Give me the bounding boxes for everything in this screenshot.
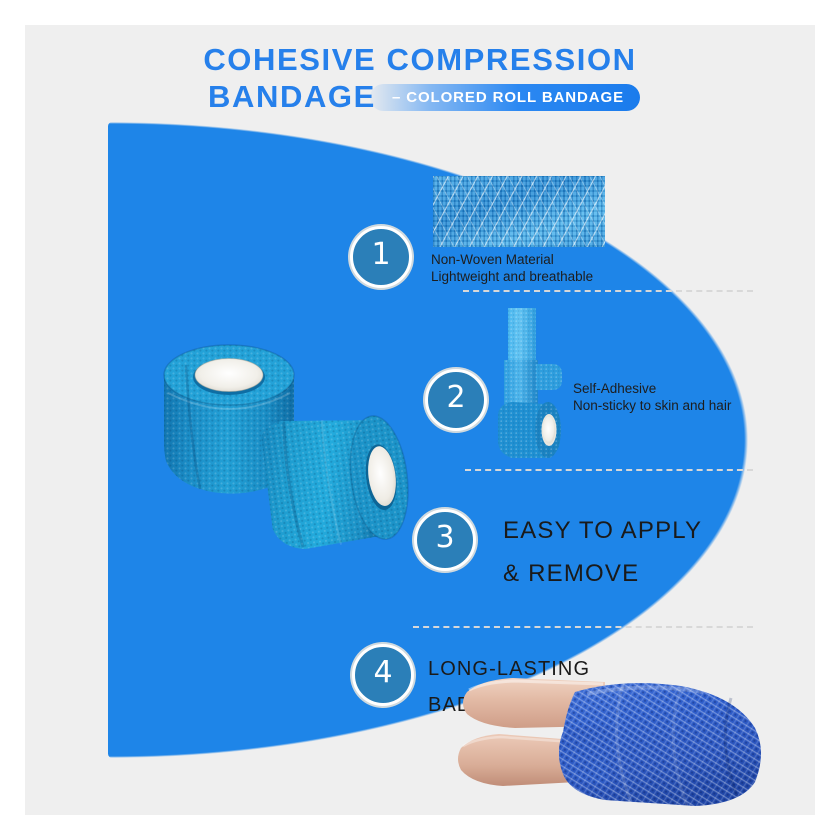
title-line-2: BANDAGE – COLORED ROLL BANDAGE <box>25 80 815 114</box>
infographic-canvas: COHESIVE COMPRESSION BANDAGE – COLORED R… <box>25 25 815 815</box>
subtitle-pill: – COLORED ROLL BANDAGE <box>370 84 640 111</box>
feature-badge-1: 1 <box>350 226 412 288</box>
divider-2 <box>465 469 753 471</box>
feature-1-line-1: Non-Woven Material <box>431 251 593 268</box>
bandage-roll-tilted <box>257 403 412 555</box>
feature-badge-3: 3 <box>414 509 476 571</box>
feature-2-line-2: Non-sticky to skin and hair <box>573 397 731 414</box>
feature-1-caption: Non-Woven Material Lightweight and breat… <box>431 251 593 285</box>
page-title: COHESIVE COMPRESSION BANDAGE – COLORED R… <box>25 43 815 114</box>
feature-1-line-2: Lightweight and breathable <box>431 268 593 285</box>
feature-badge-1-number: 1 <box>371 240 390 270</box>
fabric-texture-swatch <box>433 176 605 247</box>
feature-3-caption: EASY TO APPLY & REMOVE <box>503 509 702 595</box>
feature-badge-4-number: 4 <box>373 658 392 688</box>
divider-1 <box>463 290 753 292</box>
feature-3-line-2: & REMOVE <box>503 552 702 595</box>
title-word-bandage: BANDAGE <box>208 80 376 114</box>
feature-2-line-1: Self-Adhesive <box>573 380 731 397</box>
image-frame: COHESIVE COMPRESSION BANDAGE – COLORED R… <box>0 0 840 840</box>
divider-3 <box>413 626 753 628</box>
feature-3-line-1: EASY TO APPLY <box>503 509 702 552</box>
title-line-1: COHESIVE COMPRESSION <box>25 43 815 77</box>
feature-badge-2-number: 2 <box>446 383 465 413</box>
feature-2-caption: Self-Adhesive Non-sticky to skin and hai… <box>573 380 731 414</box>
feature-badge-2: 2 <box>425 369 487 431</box>
bandaged-hand <box>455 670 775 815</box>
feature-badge-3-number: 3 <box>435 523 454 553</box>
feature-badge-4: 4 <box>352 644 414 706</box>
